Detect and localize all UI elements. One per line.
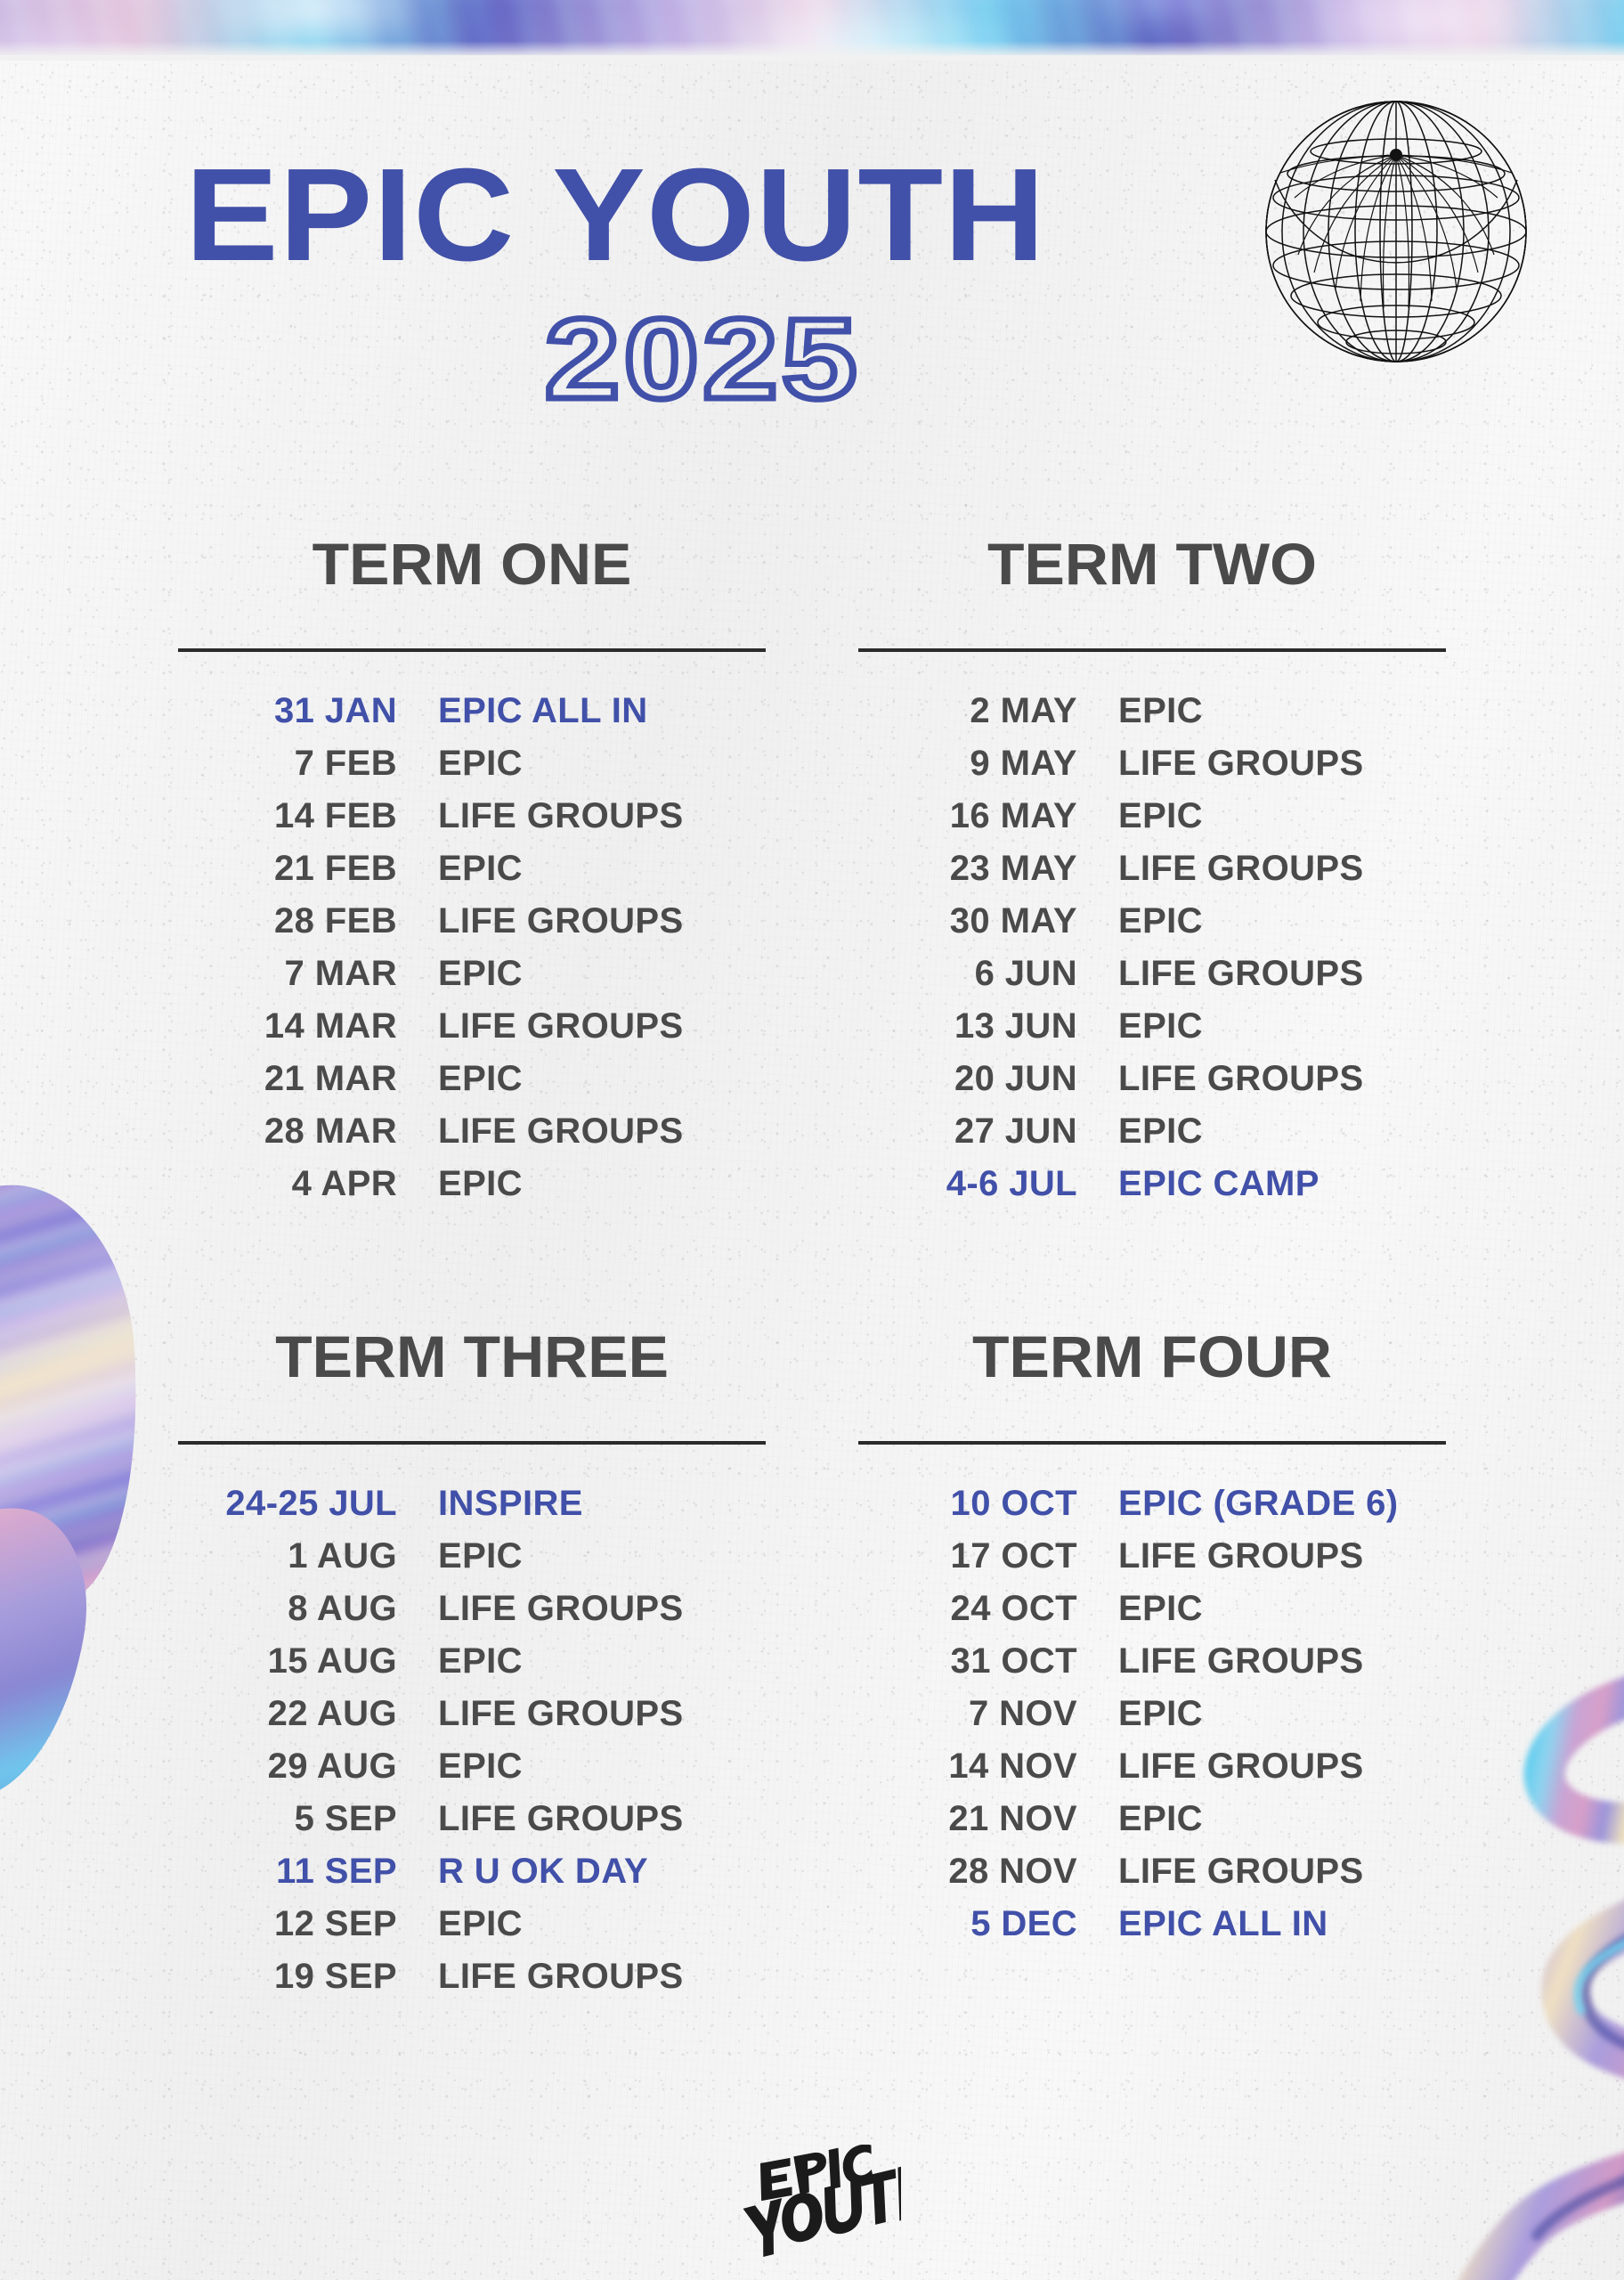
term-divider [858, 648, 1446, 652]
row-event: LIFE GROUPS [438, 1799, 684, 1839]
row-event: EPIC [438, 849, 523, 889]
table-row: 7 FEB EPIC [160, 744, 784, 796]
table-row: 21 FEB EPIC [160, 849, 784, 901]
row-event: LIFE GROUPS [438, 1111, 684, 1152]
table-row: 14 FEB LIFE GROUPS [160, 796, 784, 849]
poster-canvas: EPIC YOUTH 2025 [0, 0, 1624, 2280]
term-row-list: 31 JAN EPIC ALL IN 7 FEB EPIC 14 FEB LIF… [160, 691, 784, 1217]
row-event: EPIC [438, 1164, 523, 1204]
row-event: EPIC [1118, 1799, 1203, 1839]
row-date: 31 OCT [840, 1641, 1077, 1681]
table-row: 16 MAY EPIC [840, 796, 1464, 849]
term-title: TERM ONE [151, 534, 793, 593]
row-date: 19 SEP [160, 1957, 397, 1997]
table-row: 30 MAY EPIC [840, 901, 1464, 954]
term-title: TERM TWO [832, 534, 1474, 593]
table-row: 14 NOV LIFE GROUPS [840, 1747, 1464, 1799]
term-divider [178, 1441, 766, 1445]
row-event: LIFE GROUPS [438, 796, 684, 836]
table-row: 17 OCT LIFE GROUPS [840, 1536, 1464, 1589]
row-date: 7 NOV [840, 1694, 1077, 1734]
table-row: 5 DEC EPIC ALL IN [840, 1904, 1464, 1957]
table-row: 28 NOV LIFE GROUPS [840, 1852, 1464, 1904]
table-row: 5 SEP LIFE GROUPS [160, 1799, 784, 1852]
row-date: 7 MAR [160, 954, 397, 994]
row-event: EPIC [1118, 796, 1203, 836]
table-row: 4 APR EPIC [160, 1164, 784, 1217]
row-event: EPIC [438, 744, 523, 784]
row-date: 20 JUN [840, 1059, 1077, 1099]
table-row: 21 MAR EPIC [160, 1059, 784, 1111]
row-event: EPIC ALL IN [1118, 1904, 1328, 1944]
table-row: 12 SEP EPIC [160, 1904, 784, 1957]
term-title: TERM THREE [151, 1327, 793, 1386]
row-date: 12 SEP [160, 1904, 397, 1944]
table-row: 7 NOV EPIC [840, 1694, 1464, 1747]
term-row-list: 2 MAY EPIC 9 MAY LIFE GROUPS 16 MAY EPIC… [840, 691, 1464, 1217]
row-event: LIFE GROUPS [1118, 744, 1364, 784]
row-date: 22 AUG [160, 1694, 397, 1734]
term-row-list: 24-25 JUL INSPIRE 1 AUG EPIC 8 AUG LIFE … [160, 1484, 784, 2009]
term-divider [178, 648, 766, 652]
term-schedule-grid: TERM ONE 31 JAN EPIC ALL IN 7 FEB EPIC 1… [0, 0, 1624, 2280]
row-date: 14 FEB [160, 796, 397, 836]
row-event: EPIC CAMP [1118, 1164, 1319, 1204]
table-row: 7 MAR EPIC [160, 954, 784, 1006]
row-event: R U OK DAY [438, 1852, 648, 1892]
row-event: EPIC [1118, 1694, 1203, 1734]
row-date: 31 JAN [160, 691, 397, 731]
table-row: 23 MAY LIFE GROUPS [840, 849, 1464, 901]
row-event: EPIC [1118, 1111, 1203, 1152]
term-block-four: TERM FOUR 10 OCT EPIC (GRADE 6) 17 OCT L… [840, 1327, 1464, 1957]
table-row: 10 OCT EPIC (GRADE 6) [840, 1484, 1464, 1536]
row-event: EPIC [438, 1904, 523, 1944]
row-event: LIFE GROUPS [1118, 1852, 1364, 1892]
row-date: 30 MAY [840, 901, 1077, 941]
row-date: 2 MAY [840, 691, 1077, 731]
row-event: EPIC [438, 954, 523, 994]
row-event: EPIC [438, 1641, 523, 1681]
row-date: 27 JUN [840, 1111, 1077, 1152]
row-date: 16 MAY [840, 796, 1077, 836]
table-row: 29 AUG EPIC [160, 1747, 784, 1799]
table-row: 9 MAY LIFE GROUPS [840, 744, 1464, 796]
row-date: 28 MAR [160, 1111, 397, 1152]
row-event: LIFE GROUPS [1118, 1536, 1364, 1576]
row-date: 9 MAY [840, 744, 1077, 784]
row-event: LIFE GROUPS [1118, 1641, 1364, 1681]
table-row: 21 NOV EPIC [840, 1799, 1464, 1852]
row-date: 21 FEB [160, 849, 397, 889]
table-row: 2 MAY EPIC [840, 691, 1464, 744]
row-event: LIFE GROUPS [1118, 849, 1364, 889]
row-date: 10 OCT [840, 1484, 1077, 1524]
row-date: 15 AUG [160, 1641, 397, 1681]
row-date: 24 OCT [840, 1589, 1077, 1629]
table-row: 28 FEB LIFE GROUPS [160, 901, 784, 954]
row-date: 14 NOV [840, 1747, 1077, 1787]
row-date: 24-25 JUL [160, 1484, 397, 1524]
row-event: INSPIRE [438, 1484, 583, 1524]
row-date: 1 AUG [160, 1536, 397, 1576]
row-event: EPIC [438, 1059, 523, 1099]
row-event: EPIC [1118, 901, 1203, 941]
epic-youth-brush-logo [723, 2145, 901, 2260]
term-row-list: 10 OCT EPIC (GRADE 6) 17 OCT LIFE GROUPS… [840, 1484, 1464, 1957]
table-row: 24-25 JUL INSPIRE [160, 1484, 784, 1536]
term-title: TERM FOUR [832, 1327, 1474, 1386]
row-date: 11 SEP [160, 1852, 397, 1892]
row-event: EPIC ALL IN [438, 691, 648, 731]
row-event: LIFE GROUPS [438, 1006, 684, 1046]
table-row: 1 AUG EPIC [160, 1536, 784, 1589]
row-date: 4 APR [160, 1164, 397, 1204]
row-event: EPIC [438, 1747, 523, 1787]
row-date: 8 AUG [160, 1589, 397, 1629]
table-row: 20 JUN LIFE GROUPS [840, 1059, 1464, 1111]
table-row: 19 SEP LIFE GROUPS [160, 1957, 784, 2009]
row-date: 28 NOV [840, 1852, 1077, 1892]
row-date: 5 SEP [160, 1799, 397, 1839]
table-row: 22 AUG LIFE GROUPS [160, 1694, 784, 1747]
row-event: EPIC [1118, 691, 1203, 731]
row-event: EPIC (GRADE 6) [1118, 1484, 1399, 1524]
table-row: 31 OCT LIFE GROUPS [840, 1641, 1464, 1694]
table-row: 13 JUN EPIC [840, 1006, 1464, 1059]
table-row: 14 MAR LIFE GROUPS [160, 1006, 784, 1059]
row-date: 17 OCT [840, 1536, 1077, 1576]
table-row: 8 AUG LIFE GROUPS [160, 1589, 784, 1641]
row-date: 23 MAY [840, 849, 1077, 889]
table-row: 6 JUN LIFE GROUPS [840, 954, 1464, 1006]
row-date: 21 NOV [840, 1799, 1077, 1839]
row-event: LIFE GROUPS [1118, 1059, 1364, 1099]
row-event: LIFE GROUPS [438, 1957, 684, 1997]
row-event: LIFE GROUPS [1118, 954, 1364, 994]
table-row: 11 SEP R U OK DAY [160, 1852, 784, 1904]
row-event: EPIC [1118, 1006, 1203, 1046]
row-date: 13 JUN [840, 1006, 1077, 1046]
term-divider [858, 1441, 1446, 1445]
term-block-two: TERM TWO 2 MAY EPIC 9 MAY LIFE GROUPS 16… [840, 534, 1464, 1217]
row-date: 5 DEC [840, 1904, 1077, 1944]
row-event: LIFE GROUPS [1118, 1747, 1364, 1787]
row-date: 4-6 JUL [840, 1164, 1077, 1204]
row-date: 21 MAR [160, 1059, 397, 1099]
row-event: EPIC [1118, 1589, 1203, 1629]
row-date: 7 FEB [160, 744, 397, 784]
table-row: 24 OCT EPIC [840, 1589, 1464, 1641]
term-block-one: TERM ONE 31 JAN EPIC ALL IN 7 FEB EPIC 1… [160, 534, 784, 1217]
term-block-three: TERM THREE 24-25 JUL INSPIRE 1 AUG EPIC … [160, 1327, 784, 2009]
row-date: 6 JUN [840, 954, 1077, 994]
row-event: EPIC [438, 1536, 523, 1576]
row-event: LIFE GROUPS [438, 901, 684, 941]
row-date: 14 MAR [160, 1006, 397, 1046]
table-row: 27 JUN EPIC [840, 1111, 1464, 1164]
row-date: 28 FEB [160, 901, 397, 941]
table-row: 15 AUG EPIC [160, 1641, 784, 1694]
row-date: 29 AUG [160, 1747, 397, 1787]
table-row: 28 MAR LIFE GROUPS [160, 1111, 784, 1164]
table-row: 31 JAN EPIC ALL IN [160, 691, 784, 744]
row-event: LIFE GROUPS [438, 1694, 684, 1734]
table-row: 4-6 JUL EPIC CAMP [840, 1164, 1464, 1217]
row-event: LIFE GROUPS [438, 1589, 684, 1629]
